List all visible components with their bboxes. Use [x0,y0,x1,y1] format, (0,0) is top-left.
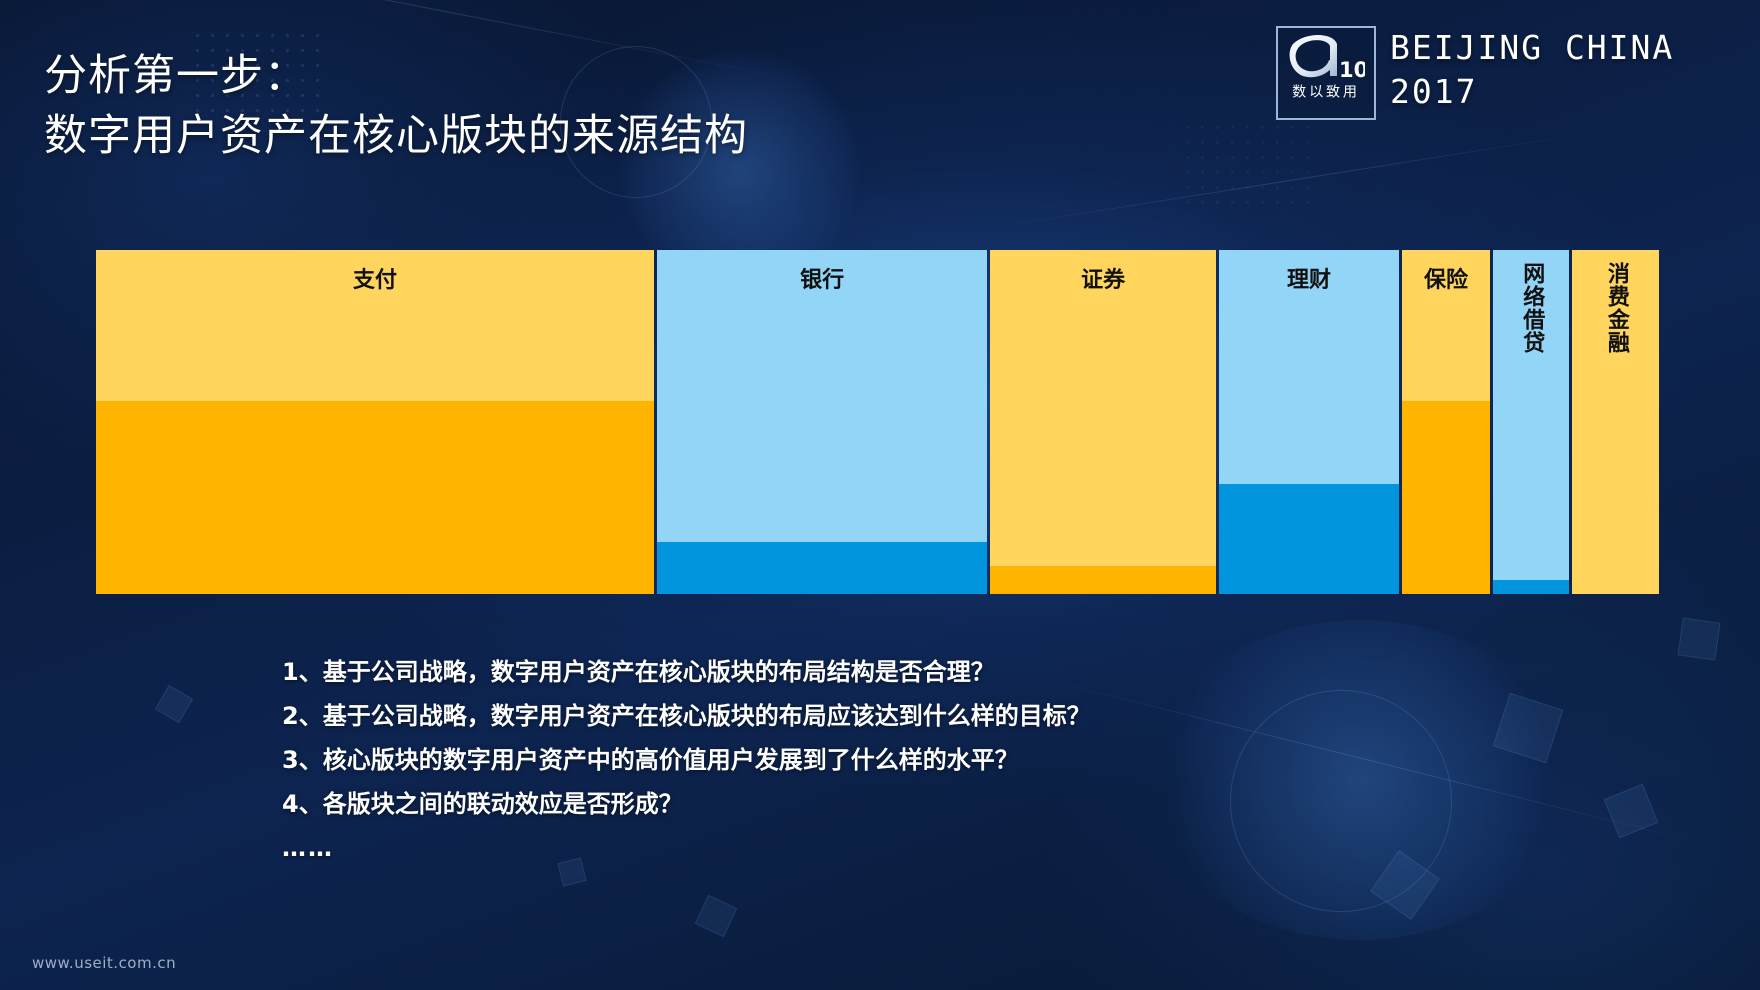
chart-column-1: 支付 [96,250,654,594]
chart-segment [1493,250,1570,580]
event-location-year: BEIJING CHINA 2017 [1390,26,1674,114]
chart-column-4: 理财 [1219,250,1399,594]
site-footer: www.useit.com.cn [32,954,176,972]
chart-segment [1402,250,1490,401]
svg-text:10: 10 [1339,58,1365,82]
marimekko-chart: 支付银行证券理财保险网络借贷消费金融 [96,250,1641,594]
chart-segment [96,250,654,401]
conference-logo: 10 数以致用 [1276,26,1376,120]
slide-title: 分析第一步： 数字用户资产在核心版块的来源结构 [44,46,748,166]
chart-segment [1493,580,1570,594]
question-item: 4、各版块之间的联动效应是否形成？ [282,782,1482,826]
chart-column-6: 网络借贷 [1493,250,1570,594]
chart-segment [1572,250,1659,594]
chart-segment [657,250,987,542]
chart-segment [1219,250,1399,484]
event-branding: 10 数以致用 BEIJING CHINA 2017 [1276,26,1674,120]
chart-column-7: 消费金融 [1572,250,1659,594]
chart-segment [990,250,1216,566]
chart-column-3: 证券 [990,250,1216,594]
cube-decoration [1678,618,1721,661]
chart-segment [96,401,654,594]
question-item: 3、核心版块的数字用户资产中的高价值用户发展到了什么样的水平？ [282,738,1482,782]
cube-decoration [155,685,193,723]
logo-a-mark-icon: 10 [1284,28,1368,86]
logo-slogan: 数以致用 [1292,85,1360,101]
chart-segment [657,542,987,594]
cube-decoration [695,895,738,938]
chart-segment [1219,484,1399,594]
event-location: BEIJING CHINA [1390,26,1674,70]
dot-grid-decoration [1180,120,1320,210]
chart-column-2: 银行 [657,250,987,594]
question-ellipsis: …… [282,826,1482,870]
question-item: 1、基于公司战略，数字用户资产在核心版块的布局结构是否合理？ [282,650,1482,694]
question-list: 1、基于公司战略，数字用户资产在核心版块的布局结构是否合理？2、基于公司战略，数… [282,650,1482,870]
chart-segment [1402,401,1490,594]
question-item: 2、基于公司战略，数字用户资产在核心版块的布局应该达到什么样的目标？ [282,694,1482,738]
event-year: 2017 [1390,70,1674,114]
line-decoration [984,132,1597,230]
slide-canvas: 分析第一步： 数字用户资产在核心版块的来源结构 10 数以致用 [0,0,1760,990]
chart-segment [990,566,1216,594]
chart-column-5: 保险 [1402,250,1490,594]
